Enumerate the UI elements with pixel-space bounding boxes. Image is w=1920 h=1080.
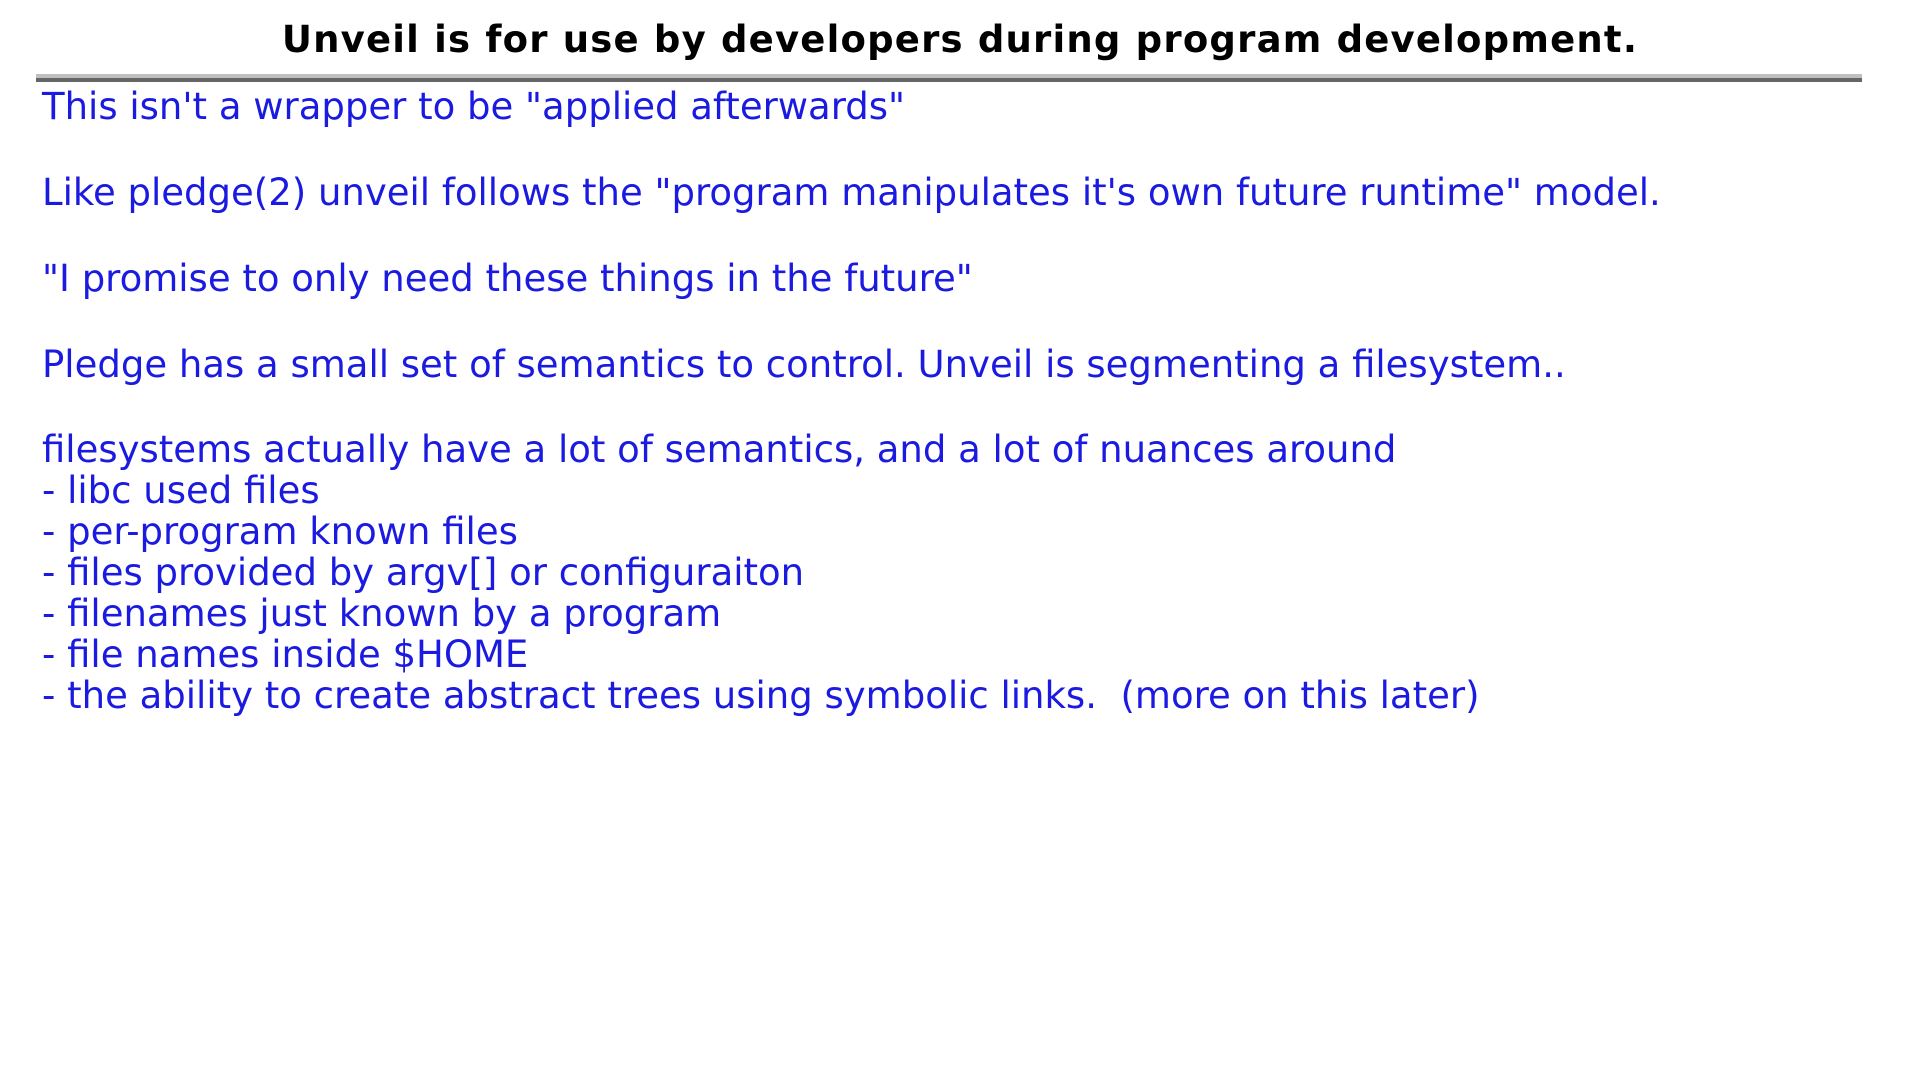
list-item: - filenames just known by a program <box>42 593 1882 634</box>
body-paragraph-5: filesystems actually have a lot of seman… <box>42 429 1882 470</box>
paragraph-spacer <box>42 127 1882 172</box>
body-paragraph-4: Pledge has a small set of semantics to c… <box>42 344 1882 385</box>
rule-shadow <box>36 78 1862 82</box>
slide-body: This isn't a wrapper to be "applied afte… <box>42 86 1882 716</box>
body-paragraph-3: "I promise to only need these things in … <box>42 258 1882 299</box>
paragraph-spacer <box>42 385 1882 429</box>
paragraph-spacer <box>42 213 1882 258</box>
list-item: - file names inside $HOME <box>42 634 1882 675</box>
list-item: - files provided by argv[] or configurai… <box>42 552 1882 593</box>
title-divider-rule <box>36 74 1862 82</box>
list-item: - the ability to create abstract trees u… <box>42 675 1882 716</box>
body-paragraph-1: This isn't a wrapper to be "applied afte… <box>42 86 1882 127</box>
paragraph-spacer <box>42 299 1882 344</box>
list-item: - libc used files <box>42 470 1882 511</box>
slide-title: Unveil is for use by developers during p… <box>0 18 1920 61</box>
presentation-slide: Unveil is for use by developers during p… <box>0 0 1920 1080</box>
list-item: - per-program known files <box>42 511 1882 552</box>
body-paragraph-2: Like pledge(2) unveil follows the "progr… <box>42 172 1882 213</box>
